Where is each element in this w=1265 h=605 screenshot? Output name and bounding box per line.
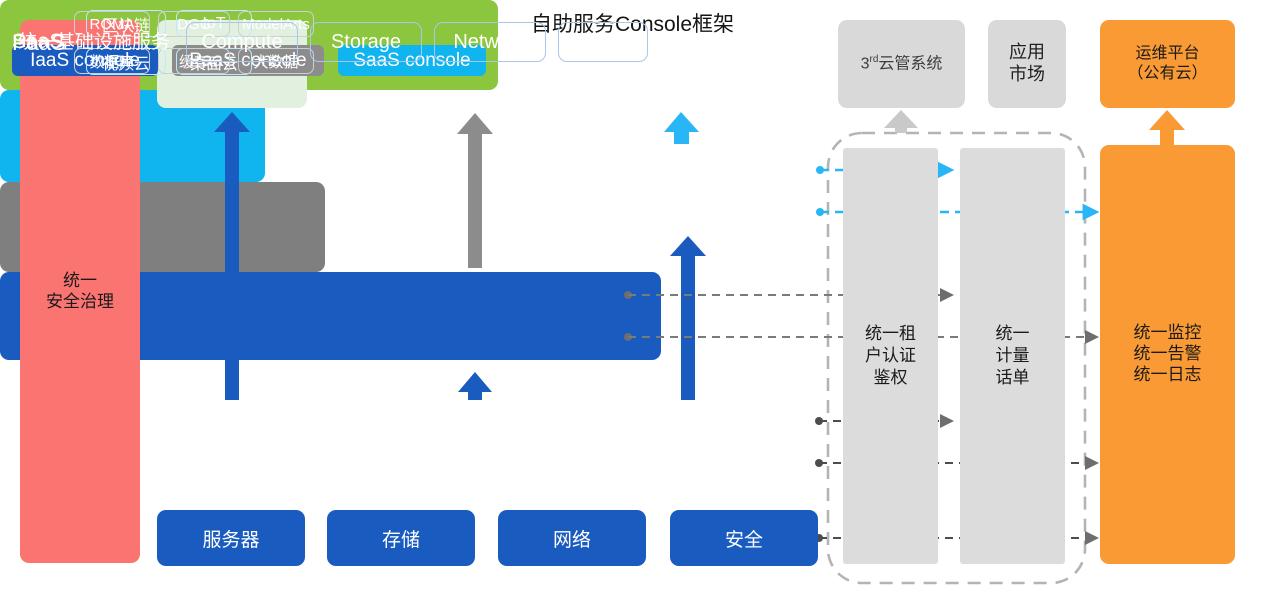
third-party-label-prefix: 3 (861, 55, 870, 72)
infrastructure-network-box[interactable]: 网络 (498, 510, 646, 566)
app-market-box[interactable]: 应用 市场 (988, 20, 1066, 108)
governance-label-line2: 安全治理 (46, 292, 114, 311)
metering-label-line3: 话单 (996, 368, 1030, 387)
ops-platform-public-cloud-box[interactable]: 运维平台 （公有云） (1100, 20, 1235, 108)
app-market-label-line1: 应用 (1009, 42, 1045, 62)
arrow-ops-main-to-ops-top (1149, 110, 1185, 145)
infrastructure-storage-box[interactable]: 存储 (327, 510, 475, 566)
third-party-label-suffix: 云管系统 (878, 55, 942, 72)
iaas-service-compute[interactable]: Compute (186, 22, 298, 62)
arrow-shared-to-third-party (884, 110, 918, 133)
auth-label-line3: 鉴权 (874, 368, 908, 387)
infrastructure-security-box[interactable]: 安全 (670, 510, 818, 566)
third-party-cloud-management-box[interactable]: 3rd云管系统 (838, 20, 965, 108)
unified-monitoring-alarm-log-panel[interactable]: 统一监控 统一告警 统一日志 (1100, 145, 1235, 564)
app-market-label-line2: 市场 (1009, 64, 1045, 84)
iaas-service-network[interactable]: Network (434, 22, 546, 62)
ops-main-label-line1: 统一监控 (1134, 323, 1202, 342)
auth-label-line1: 统一租 (865, 324, 916, 343)
auth-label-line2: 户认证 (865, 346, 916, 365)
arrow-iaas-to-saas (670, 236, 706, 400)
arrow-saas-to-console (664, 112, 699, 144)
arrow-paas-to-console (457, 113, 493, 268)
unified-security-governance-panel[interactable]: 统一 安全治理 (20, 20, 140, 563)
metering-label-line2: 计量 (996, 346, 1030, 365)
ops-main-label-line3: 统一日志 (1134, 365, 1202, 384)
metering-label-line1: 统一 (996, 324, 1030, 343)
ops-main-label-line2: 统一告警 (1134, 344, 1202, 363)
iaas-service-cce[interactable]: CCE (558, 22, 648, 62)
iaas-service-storage[interactable]: Storage (310, 22, 422, 62)
ops-platform-label-line1: 运维平台 (1135, 45, 1199, 62)
governance-label-line1: 统一 (63, 271, 97, 290)
ops-platform-label-line2: （公有云） (1127, 65, 1207, 82)
unified-metering-billing-column[interactable]: 统一 计量 话单 (960, 148, 1065, 564)
iaas-bar-label: 统一基础设施服务 (18, 27, 170, 54)
arrow-iaas-to-paas (458, 372, 492, 400)
infrastructure-server-box[interactable]: 服务器 (157, 510, 305, 566)
arrow-iaas-to-api-gateway (214, 112, 250, 400)
architecture-diagram: 统一 安全治理 API网关 自助服务Console框架 IaaS console… (0, 0, 1265, 605)
unified-tenant-auth-column[interactable]: 统一租 户认证 鉴权 (843, 148, 938, 564)
